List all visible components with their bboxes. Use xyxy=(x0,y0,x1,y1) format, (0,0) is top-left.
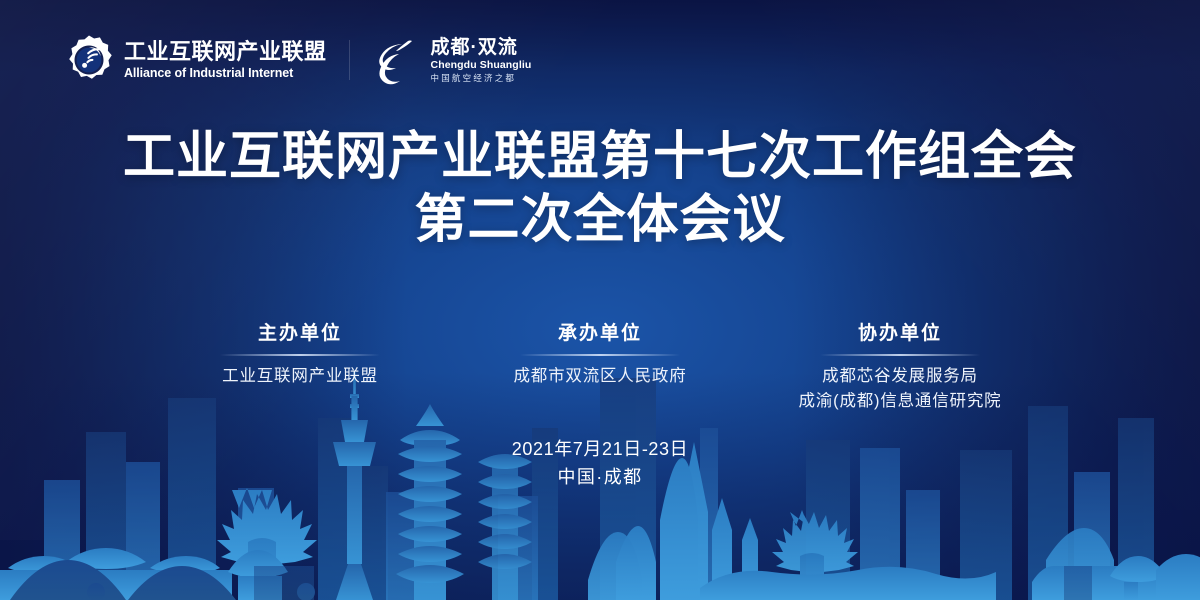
organizer-name: 成都市双流区人民政府 xyxy=(450,364,750,389)
logo-chengdu-shuangliu: 成都·双流 Chengdu Shuangliu 中国航空经济之都 xyxy=(372,35,532,85)
logo-chengdu-cn: 成都·双流 xyxy=(431,38,532,57)
logo-alliance-en: Alliance of Industrial Internet xyxy=(124,67,327,80)
logo-separator xyxy=(349,40,350,80)
organizer-column-host: 主办单位 工业互联网产业联盟 xyxy=(150,318,450,389)
organizer-divider xyxy=(220,354,380,356)
organizer-role-label: 协办单位 xyxy=(750,318,1050,345)
skyline-wave-roof xyxy=(700,567,996,600)
logo-bar: 工业互联网产业联盟 Alliance of Industrial Interne… xyxy=(63,34,531,86)
organizer-divider xyxy=(820,354,980,356)
organizer-name: 成都芯谷发展服务局 xyxy=(750,364,1050,389)
organizer-role-label: 承办单位 xyxy=(450,318,750,345)
organizer-list: 主办单位 工业互联网产业联盟 承办单位 成都市双流区人民政府 协办单位 成都芯谷… xyxy=(0,318,1200,414)
logo-alliance-of-industrial-internet: 工业互联网产业联盟 Alliance of Industrial Interne… xyxy=(63,34,327,86)
organizer-column-coorganizer: 协办单位 成都芯谷发展服务局 成渝(成都)信息通信研究院 xyxy=(750,318,1050,414)
event-date: 2021年7月21日-23日 xyxy=(0,436,1200,464)
event-location: 中国·成都 xyxy=(0,464,1200,492)
organizer-name: 成渝(成都)信息通信研究院 xyxy=(750,389,1050,414)
page-title: 工业互联网产业联盟第十七次工作组全会 第二次全体会议 xyxy=(0,126,1200,253)
event-meta: 2021年7月21日-23日 中国·成都 xyxy=(0,436,1200,492)
logo-alliance-cn: 工业互联网产业联盟 xyxy=(124,41,327,63)
title-line-2: 第二次全体会议 xyxy=(0,189,1200,252)
conference-banner: 工业互联网产业联盟 Alliance of Industrial Interne… xyxy=(0,0,1200,600)
gear-wifi-icon xyxy=(63,34,115,86)
logo-chengdu-text: 成都·双流 Chengdu Shuangliu 中国航空经济之都 xyxy=(431,38,532,82)
logo-chengdu-en: Chengdu Shuangliu xyxy=(431,60,532,71)
title-line-1: 工业互联网产业联盟第十七次工作组全会 xyxy=(0,126,1200,189)
organizer-divider xyxy=(520,354,680,356)
logo-alliance-text: 工业互联网产业联盟 Alliance of Industrial Interne… xyxy=(124,41,327,80)
organizer-name: 工业互联网产业联盟 xyxy=(150,364,450,389)
organizer-role-label: 主办单位 xyxy=(150,318,450,345)
organizer-column-undertaker: 承办单位 成都市双流区人民政府 xyxy=(450,318,750,389)
logo-chengdu-tagline: 中国航空经济之都 xyxy=(431,74,532,83)
airplane-swoosh-icon xyxy=(372,35,422,85)
